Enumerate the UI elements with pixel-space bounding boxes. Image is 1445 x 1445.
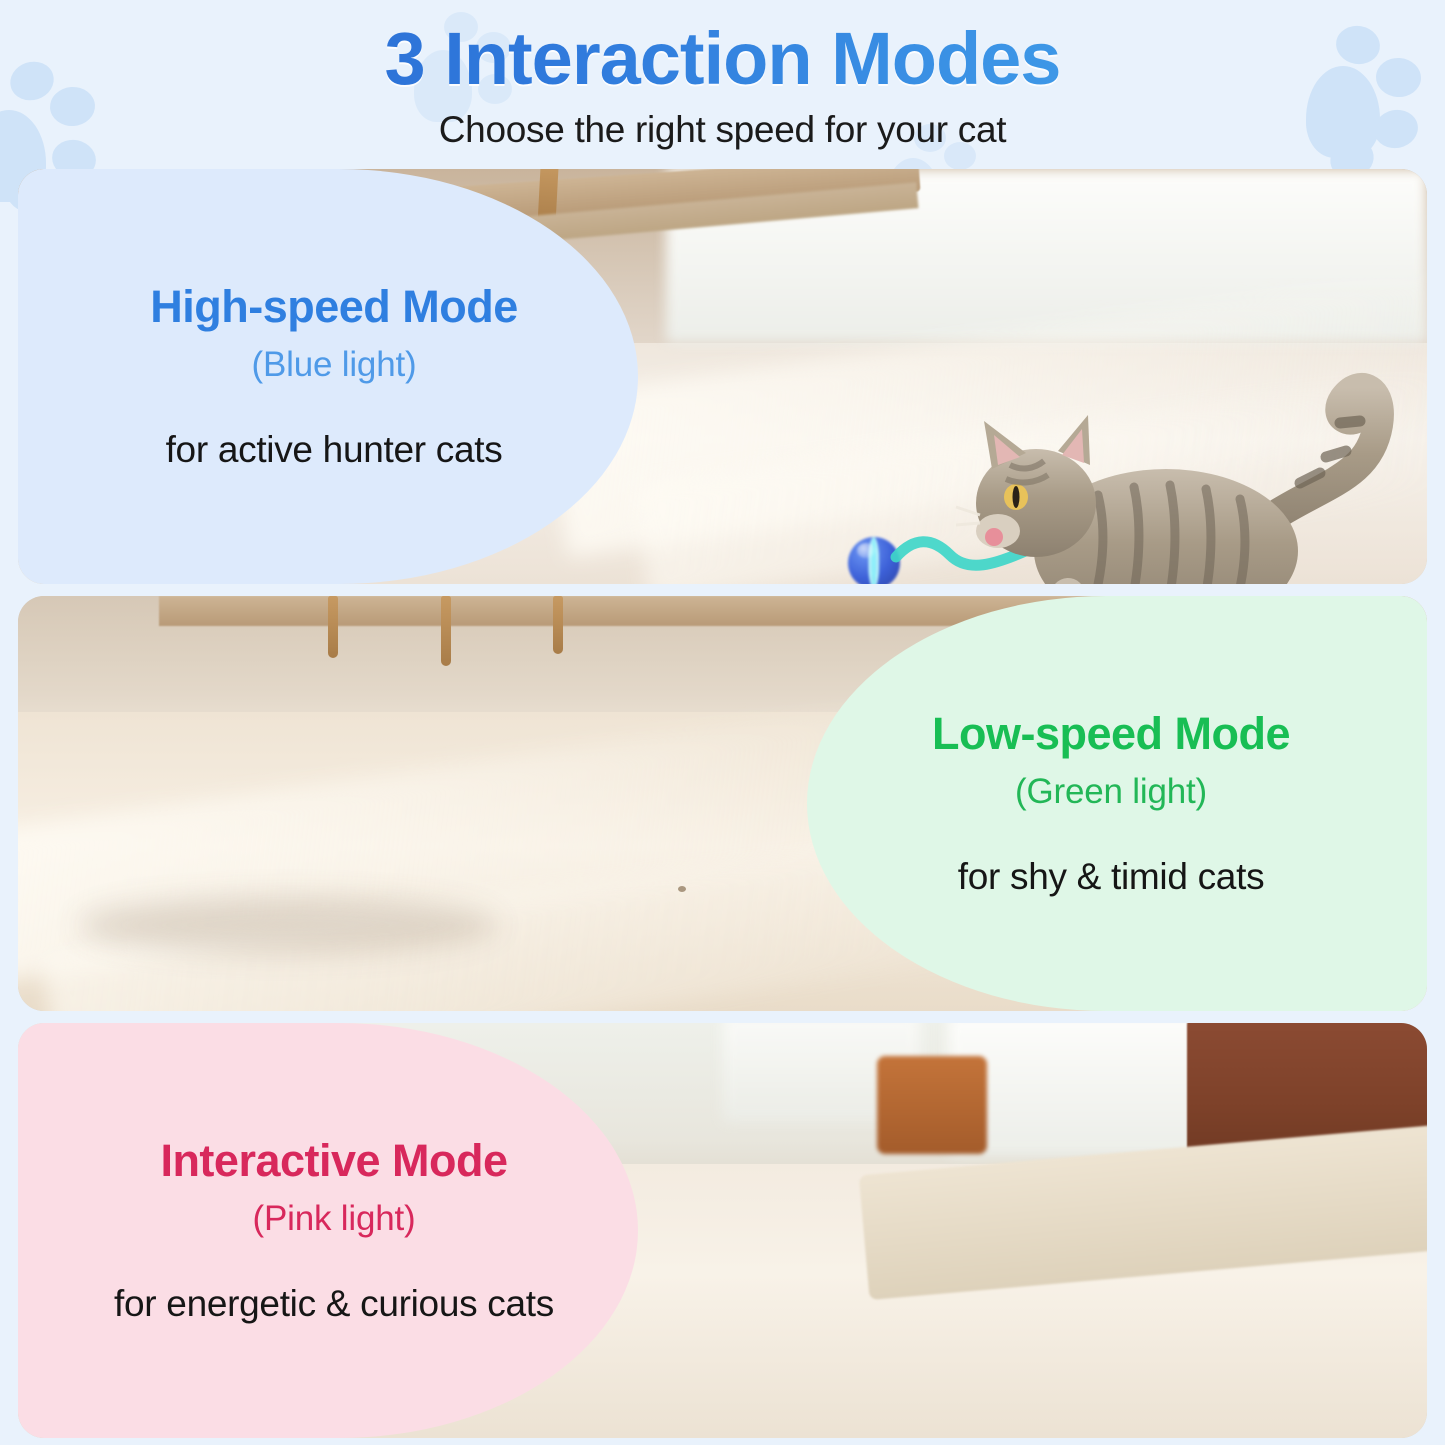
- mode-card-list: High-speed Mode (Blue light) for active …: [18, 169, 1427, 1438]
- mode-card-low-speed[interactable]: Low-speed Mode (Green light) for shy & t…: [18, 596, 1427, 1011]
- mode-light-low-speed: (Green light): [847, 772, 1375, 812]
- mode-card-high-speed[interactable]: High-speed Mode (Blue light) for active …: [18, 169, 1427, 584]
- mode-desc-high-speed: for active hunter cats: [70, 429, 598, 471]
- mode-panel-low-speed: Low-speed Mode (Green light) for shy & t…: [807, 596, 1427, 1011]
- page-title: 3 Interaction Modes: [0, 18, 1445, 101]
- mode-light-high-speed: (Blue light): [70, 345, 598, 385]
- mode-card-interactive[interactable]: Interactive Mode (Pink light) for energe…: [18, 1023, 1427, 1438]
- mode-light-interactive: (Pink light): [70, 1199, 598, 1239]
- mode-title-low-speed: Low-speed Mode: [847, 709, 1375, 759]
- mode-title-interactive: Interactive Mode: [70, 1136, 598, 1186]
- cat-tabby-walking: [948, 365, 1418, 584]
- mode-panel-high-speed: High-speed Mode (Blue light) for active …: [18, 169, 638, 584]
- page-header: 3 Interaction Modes Choose the right spe…: [0, 0, 1445, 151]
- page-subtitle: Choose the right speed for your cat: [0, 109, 1445, 151]
- mode-desc-low-speed: for shy & timid cats: [847, 856, 1375, 898]
- mode-title-high-speed: High-speed Mode: [70, 282, 598, 332]
- mode-desc-interactive: for energetic & curious cats: [70, 1283, 598, 1325]
- mode-panel-interactive: Interactive Mode (Pink light) for energe…: [18, 1023, 638, 1438]
